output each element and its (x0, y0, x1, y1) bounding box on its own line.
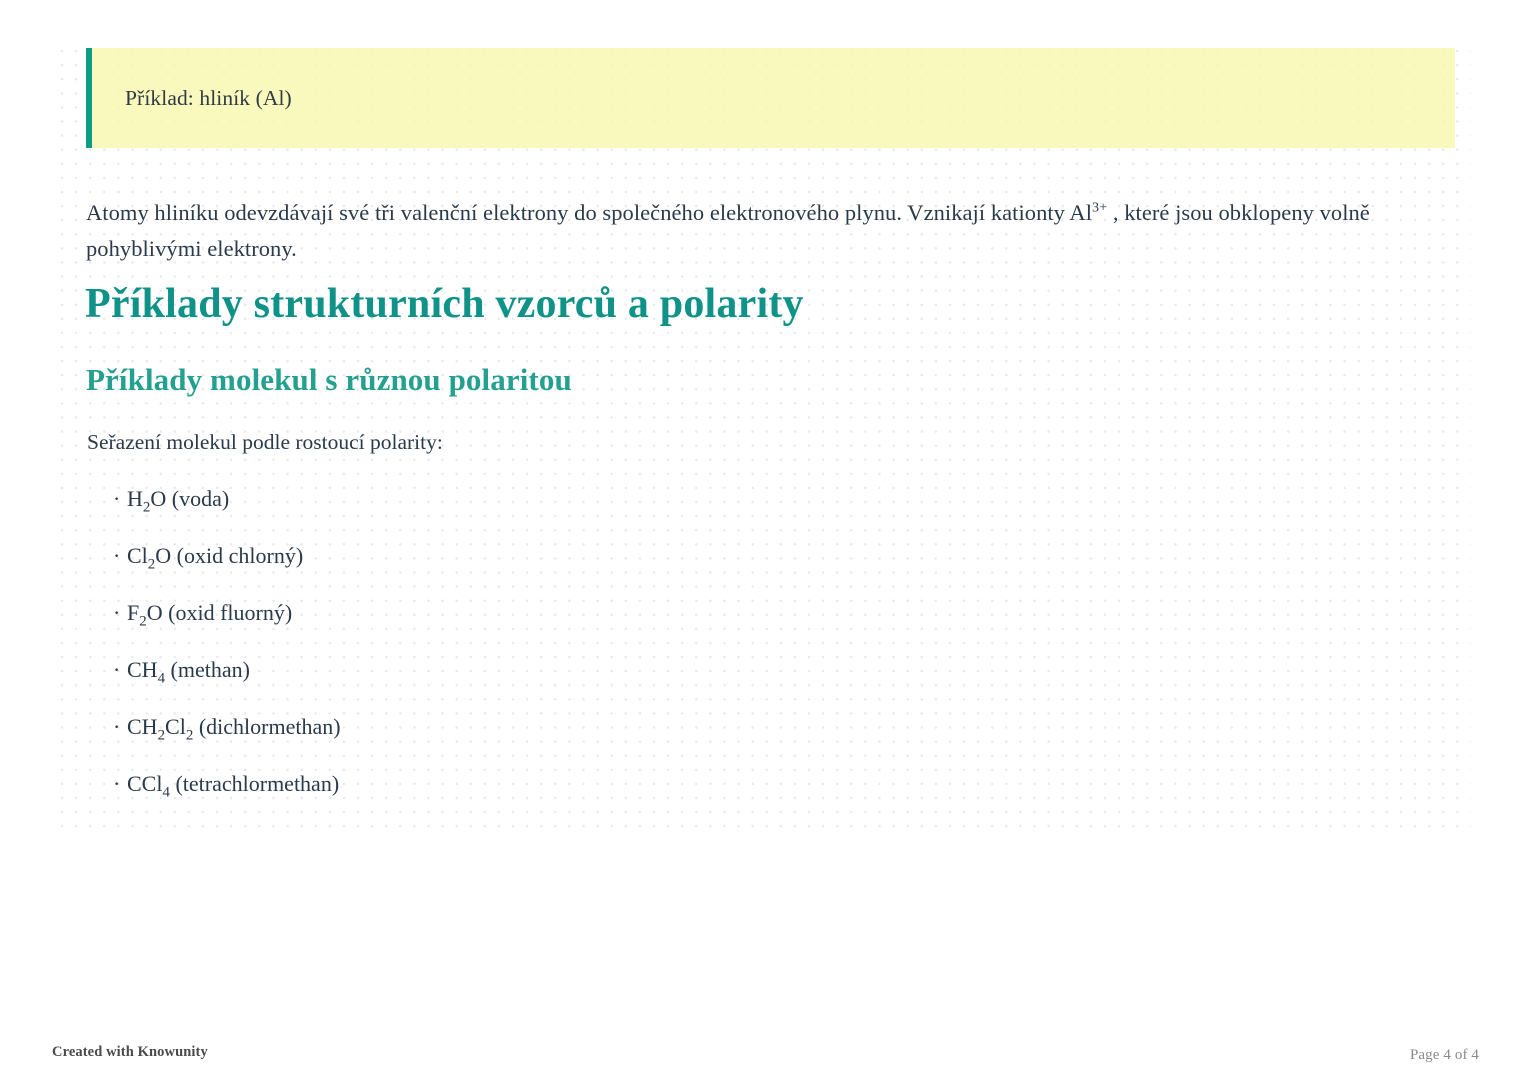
page-title: Příklady strukturních vzorců a polarity (85, 280, 804, 328)
molecule-name: (voda) (166, 486, 229, 511)
molecule-formula: CCl4 (127, 771, 170, 796)
molecule-formula: F2O (127, 600, 163, 625)
bullet-marker-icon: · (113, 767, 127, 801)
intro-paragraph: Atomy hliníku odevzdávají své tři valenč… (86, 195, 1386, 268)
footer-credit: Created with Knowunity (52, 1044, 208, 1061)
section-subtitle: Příklady molekul s různou polaritou (86, 362, 572, 398)
molecule-formula: H2O (127, 486, 166, 511)
bullet-marker-icon: · (113, 482, 127, 516)
page-canvas: Příklad: hliník (Al) Atomy hliníku odevz… (0, 0, 1527, 1080)
bullet-marker-icon: · (113, 710, 127, 744)
molecule-name: (tetrachlormethan) (170, 771, 339, 796)
molecule-polarity-list: ·H2O (voda)·Cl2O (oxid chlorný)·F2O (oxi… (113, 482, 341, 824)
molecule-formula: CH2Cl2 (127, 714, 193, 739)
molecule-name: (oxid fluorný) (163, 600, 293, 625)
list-item: ·Cl2O (oxid chlorný) (113, 539, 341, 596)
molecule-name: (oxid chlorný) (171, 543, 303, 568)
list-item: ·CH2Cl2 (dichlormethan) (113, 710, 341, 767)
list-item: ·CCl4 (tetrachlormethan) (113, 767, 341, 824)
callout-text: Příklad: hliník (Al) (92, 86, 292, 111)
molecule-name: (dichlormethan) (193, 714, 340, 739)
example-callout-box: Příklad: hliník (Al) (86, 48, 1455, 148)
footer-page-number: Page 4 of 4 (1410, 1047, 1479, 1064)
list-item: ·CH4 (methan) (113, 653, 341, 710)
list-item: ·H2O (voda) (113, 482, 341, 539)
molecule-formula: Cl2O (127, 543, 171, 568)
bullet-marker-icon: · (113, 596, 127, 630)
bullet-marker-icon: · (113, 539, 127, 573)
charge-superscript: 3+ (1092, 199, 1107, 215)
molecule-name: (methan) (165, 657, 250, 682)
molecule-formula: CH4 (127, 657, 165, 682)
list-lead-in-text: Seřazení molekul podle rostoucí polarity… (87, 428, 443, 457)
bullet-marker-icon: · (113, 653, 127, 687)
paragraph-text-before-superscript: Atomy hliníku odevzdávají své tři valenč… (86, 200, 1092, 225)
list-item: ·F2O (oxid fluorný) (113, 596, 341, 653)
